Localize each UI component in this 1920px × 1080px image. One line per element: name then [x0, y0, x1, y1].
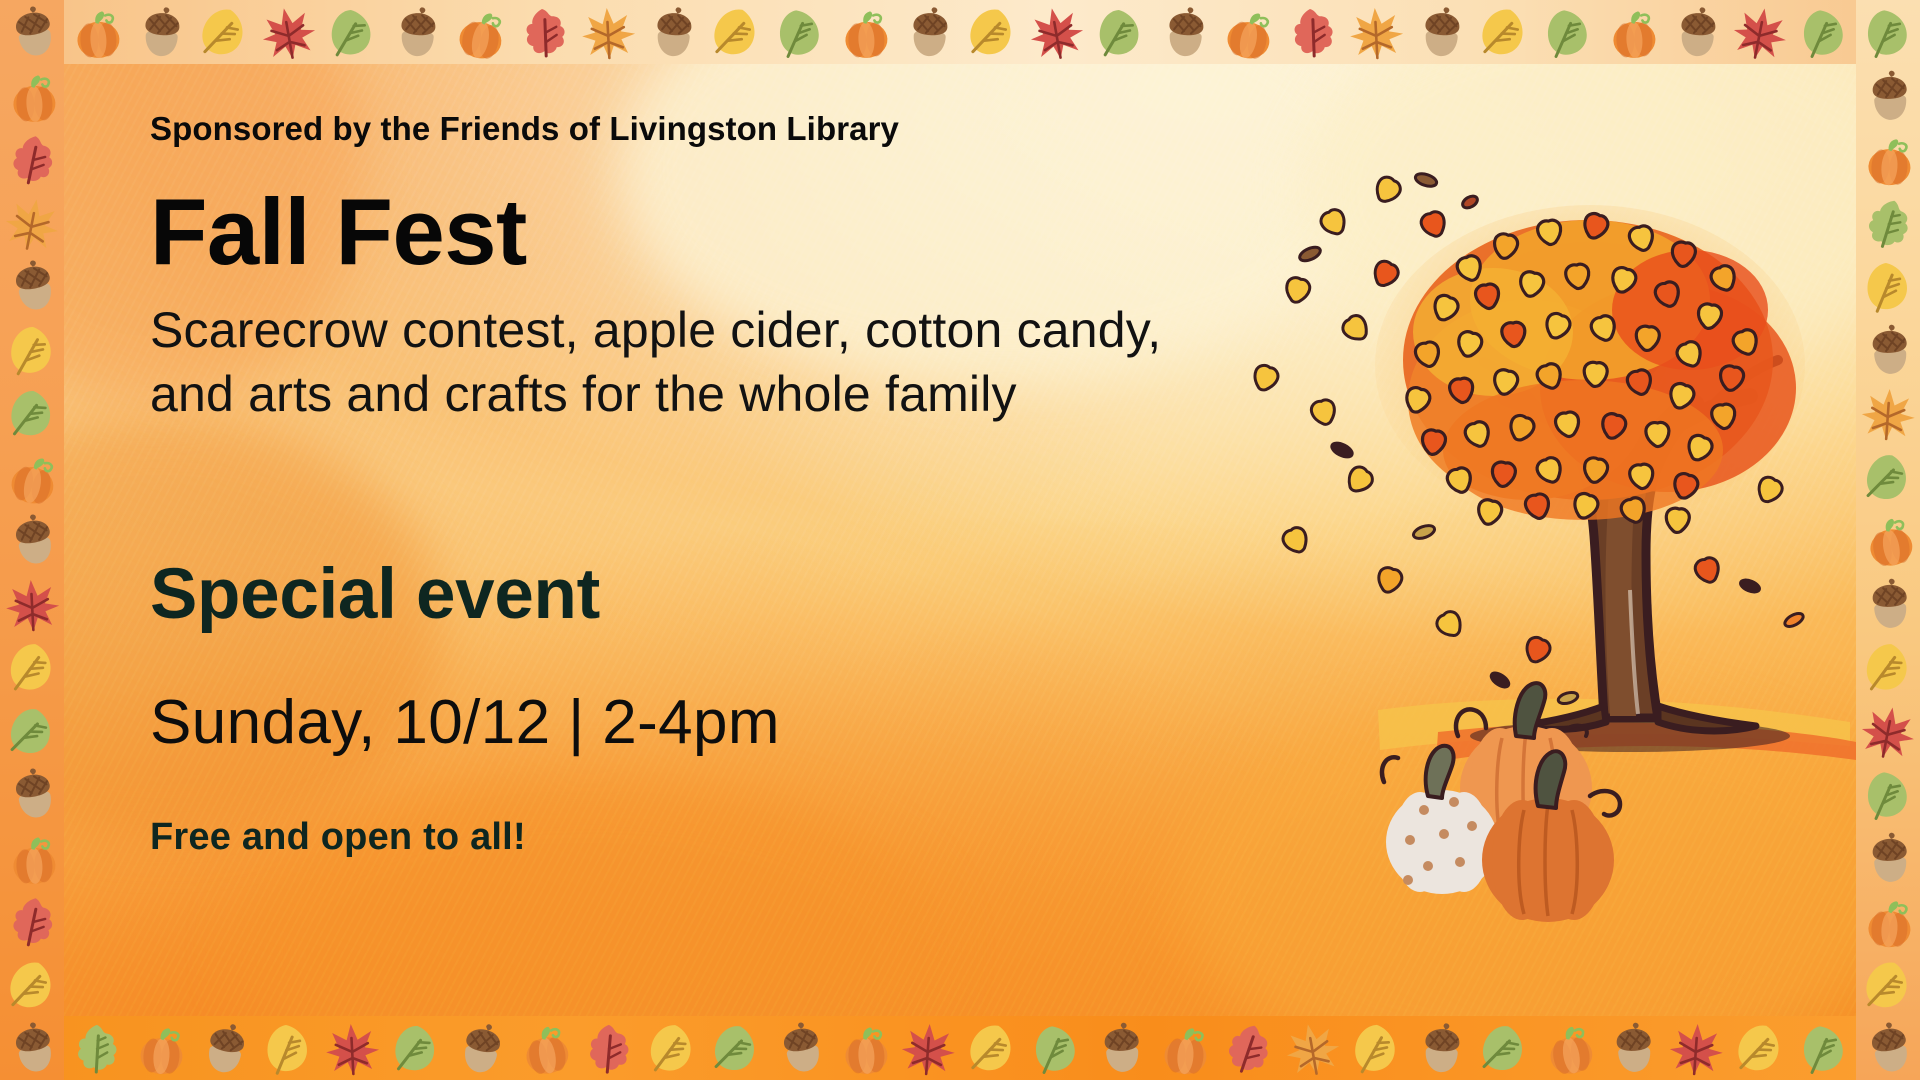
border-motif	[191, 0, 257, 65]
leaf-maple-red-icon	[3, 574, 62, 633]
border-motif	[1215, 0, 1281, 65]
leaf-yellow-icon	[703, 0, 769, 65]
pumpkin-icon	[1858, 891, 1918, 951]
pumpkin-icon	[1536, 1016, 1601, 1080]
pumpkin-icon	[3, 828, 62, 887]
section-heading: Special event	[150, 554, 1210, 635]
leaf-oak-green-icon	[67, 1019, 126, 1078]
leaf-green-icon	[2, 383, 62, 443]
border-motif	[1603, 3, 1662, 62]
border-motif	[1856, 1016, 1920, 1080]
acorn-icon	[0, 254, 64, 319]
border-motif	[447, 1015, 513, 1080]
pumpkin-icon	[0, 444, 65, 510]
acorn-icon	[0, 508, 64, 573]
acorn-icon	[0, 0, 64, 64]
admission-note: Free and open to all!	[150, 816, 1210, 859]
border-bottom	[0, 1016, 1920, 1080]
acorn-icon	[1859, 828, 1918, 887]
border-motif	[386, 2, 446, 62]
acorn-icon	[768, 1016, 833, 1080]
border-motif	[130, 1018, 190, 1078]
border-motif	[1347, 3, 1406, 62]
pumpkin-icon	[1858, 129, 1918, 189]
border-motif	[898, 1018, 958, 1078]
acorn-icon	[1859, 66, 1918, 125]
leaf-yellow-icon	[2, 637, 62, 697]
leaf-maple-red-icon	[1666, 1018, 1726, 1078]
leaf-green-icon	[703, 1015, 769, 1080]
acorn-icon	[0, 762, 64, 827]
border-motif	[1858, 129, 1918, 189]
leaf-green-icon	[1471, 1015, 1537, 1080]
acorn-icon	[1856, 1016, 1920, 1080]
border-motif	[1280, 0, 1345, 64]
border-motif	[0, 1016, 64, 1080]
fall-fest-poster: Sponsored by the Friends of Livingston L…	[0, 0, 1920, 1080]
leaf-green-icon	[0, 698, 65, 764]
border-motif	[1024, 0, 1089, 64]
border-motif	[1666, 2, 1726, 62]
border-motif	[1856, 762, 1920, 827]
border-motif	[1792, 1016, 1857, 1080]
leaf-maple-orange-icon	[579, 3, 638, 62]
leaf-yellow-icon	[642, 1018, 702, 1078]
border-right	[1856, 0, 1920, 1080]
pumpkin-icon	[835, 3, 894, 62]
border-motif	[1855, 952, 1920, 1018]
leaf-green-icon	[1856, 0, 1920, 64]
pumpkin-icon	[835, 1019, 894, 1078]
leaf-green-icon	[1024, 1016, 1089, 1080]
border-motif	[323, 1019, 382, 1078]
leaf-green-icon	[1856, 762, 1920, 827]
leaf-green-icon	[768, 0, 833, 64]
border-motif	[130, 2, 190, 62]
border-motif	[835, 3, 894, 62]
acorn-icon	[1859, 320, 1918, 379]
border-motif	[3, 828, 62, 887]
acorn-icon	[1154, 2, 1214, 62]
border-motif	[1154, 2, 1214, 62]
border-motif	[0, 254, 64, 319]
border-motif	[256, 0, 321, 64]
border-motif	[1727, 0, 1793, 65]
pumpkin-icon	[447, 0, 513, 65]
pumpkin-icon	[130, 1018, 190, 1078]
border-motif	[0, 508, 64, 573]
border-motif	[0, 444, 65, 510]
border-motif	[1215, 1015, 1281, 1080]
leaf-yellow-icon	[256, 1016, 321, 1080]
border-motif	[1856, 0, 1920, 64]
leaf-oak-red-icon	[1215, 1015, 1281, 1080]
leaf-yellow-icon	[959, 1015, 1025, 1080]
acorn-icon	[1410, 1018, 1470, 1078]
sponsor-line: Sponsored by the Friends of Livingston L…	[150, 110, 1210, 148]
leaf-maple-orange-icon	[1280, 1016, 1345, 1080]
leaf-yellow-icon	[3, 320, 62, 379]
acorn-icon	[386, 2, 446, 62]
leaf-green-icon	[1091, 3, 1150, 62]
pumpkin-icon	[1856, 508, 1920, 573]
border-motif	[1666, 1018, 1726, 1078]
border-motif	[1855, 190, 1920, 256]
border-motif	[512, 0, 577, 64]
leaf-yellow-icon	[191, 0, 257, 65]
border-motif	[1091, 3, 1150, 62]
border-motif	[1471, 1015, 1537, 1080]
leaf-oak-red-icon	[2, 891, 62, 951]
leaf-yellow-icon	[1471, 0, 1537, 65]
leaf-oak-red-icon	[579, 1019, 638, 1078]
leaf-oak-red-icon	[1280, 0, 1345, 64]
border-motif	[2, 637, 62, 697]
leaf-maple-orange-icon	[1347, 3, 1406, 62]
border-motif	[1859, 320, 1918, 379]
acorn-icon	[1666, 2, 1726, 62]
autumn-tree-illustration	[1238, 150, 1858, 950]
border-motif	[1858, 891, 1918, 951]
acorn-icon	[447, 1015, 513, 1080]
acorn-icon	[898, 2, 958, 62]
border-motif	[2, 891, 62, 951]
leaf-maple-red-icon	[256, 0, 321, 64]
leaf-maple-red-icon	[898, 1018, 958, 1078]
border-motif	[0, 190, 65, 256]
border-motif	[2, 383, 62, 443]
border-motif	[256, 1016, 321, 1080]
leaf-yellow-icon	[1347, 1019, 1406, 1078]
pumpkin-icon	[512, 1016, 577, 1080]
acorn-icon	[1091, 1019, 1150, 1078]
border-motif	[1410, 1018, 1470, 1078]
leaf-maple-red-icon	[323, 1019, 382, 1078]
leaf-green-icon	[1792, 1016, 1857, 1080]
border-motif	[323, 3, 382, 62]
border-motif	[1280, 1016, 1345, 1080]
border-motif	[1727, 1015, 1793, 1080]
leaf-green-icon	[1792, 0, 1857, 64]
border-motif	[703, 1015, 769, 1080]
border-motif	[1859, 828, 1918, 887]
border-motif	[642, 2, 702, 62]
acorn-icon	[191, 1015, 257, 1080]
border-motif	[1859, 66, 1918, 125]
pumpkin-icon	[1215, 0, 1281, 65]
border-motif	[0, 952, 65, 1018]
border-motif	[1471, 0, 1537, 65]
leaf-oak-green-icon	[1855, 190, 1920, 256]
poster-text-content: Sponsored by the Friends of Livingston L…	[150, 110, 1210, 859]
leaf-oak-red-icon	[2, 129, 62, 189]
border-left	[0, 0, 64, 1080]
border-motif	[1091, 1019, 1150, 1078]
border-motif	[1856, 254, 1920, 319]
event-datetime: Sunday, 10/12 | 2-4pm	[150, 687, 1210, 758]
border-motif	[0, 762, 64, 827]
acorn-icon	[1410, 2, 1470, 62]
border-motif	[1410, 2, 1470, 62]
border-motif	[3, 66, 62, 125]
border-motif	[1856, 508, 1920, 573]
leaf-maple-red-icon	[1855, 698, 1920, 764]
leaf-yellow-icon	[1855, 952, 1920, 1018]
border-motif	[3, 574, 62, 633]
leaf-yellow-icon	[1856, 254, 1920, 319]
leaf-oak-red-icon	[512, 0, 577, 64]
border-motif	[0, 0, 64, 64]
border-top	[0, 0, 1920, 64]
leaf-green-icon	[386, 1018, 446, 1078]
border-motif	[0, 698, 65, 764]
border-motif	[703, 0, 769, 65]
leaf-maple-red-icon	[1727, 0, 1793, 65]
border-motif	[1024, 1016, 1089, 1080]
pumpkin-icon	[1154, 1018, 1214, 1078]
border-motif	[1792, 0, 1857, 64]
event-description-line-2: and arts and crafts for the whole family	[150, 362, 1210, 426]
leaf-yellow-icon	[959, 0, 1025, 65]
leaf-green-icon	[1855, 444, 1920, 510]
border-motif	[3, 320, 62, 379]
border-motif	[1855, 444, 1920, 510]
border-motif	[768, 1016, 833, 1080]
border-motif	[512, 1016, 577, 1080]
leaf-green-icon	[323, 3, 382, 62]
border-motif	[579, 3, 638, 62]
acorn-icon	[0, 1016, 64, 1080]
leaf-yellow-icon	[0, 952, 65, 1018]
border-motif	[191, 1015, 257, 1080]
leaf-yellow-icon	[1727, 1015, 1793, 1080]
acorn-icon	[1859, 574, 1918, 633]
border-motif	[898, 2, 958, 62]
border-motif	[642, 1018, 702, 1078]
border-motif	[768, 0, 833, 64]
page-title: Fall Fest	[150, 186, 1210, 278]
leaf-maple-orange-icon	[0, 190, 65, 256]
border-motif	[67, 1019, 126, 1078]
border-motif	[1154, 1018, 1214, 1078]
border-motif	[1603, 1019, 1662, 1078]
pumpkin-icon	[3, 66, 62, 125]
border-motif	[579, 1019, 638, 1078]
border-motif	[1536, 0, 1601, 64]
border-motif	[1536, 1016, 1601, 1080]
border-motif	[67, 3, 126, 62]
pumpkin-icon	[67, 3, 126, 62]
border-motif	[959, 1015, 1025, 1080]
border-motif	[2, 129, 62, 189]
pumpkin-icon	[1603, 3, 1662, 62]
acorn-icon	[1603, 1019, 1662, 1078]
border-motif	[1858, 383, 1918, 443]
leaf-green-icon	[1536, 0, 1601, 64]
acorn-icon	[130, 2, 190, 62]
border-motif	[959, 0, 1025, 65]
acorn-icon	[642, 2, 702, 62]
leaf-maple-orange-icon	[1858, 383, 1918, 443]
leaf-yellow-icon	[1858, 637, 1918, 697]
leaf-maple-red-icon	[1024, 0, 1089, 64]
border-motif	[835, 1019, 894, 1078]
event-description-line-1: Scarecrow contest, apple cider, cotton c…	[150, 298, 1210, 362]
border-motif	[1855, 698, 1920, 764]
border-motif	[386, 1018, 446, 1078]
border-motif	[1347, 1019, 1406, 1078]
border-motif	[447, 0, 513, 65]
border-motif	[1858, 637, 1918, 697]
border-motif	[1859, 574, 1918, 633]
